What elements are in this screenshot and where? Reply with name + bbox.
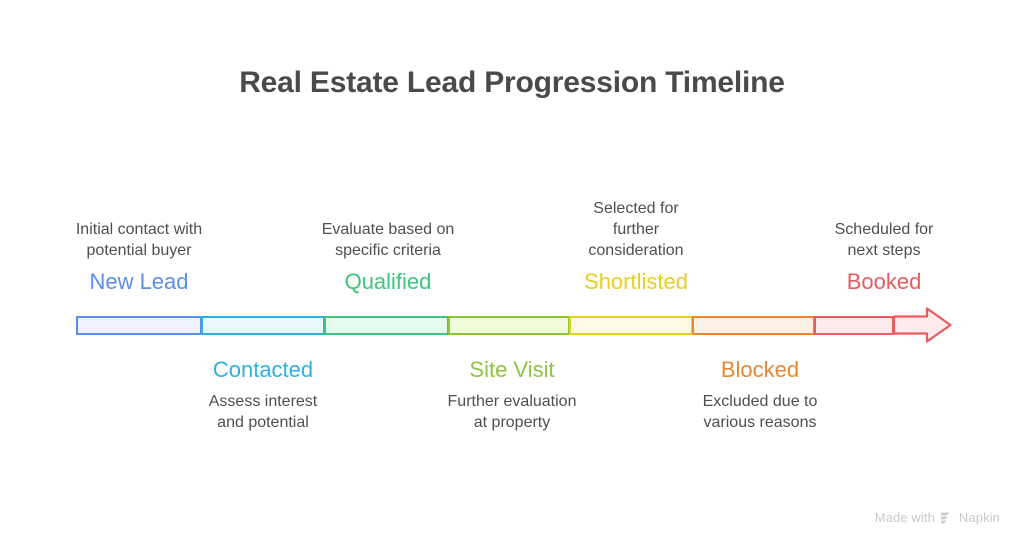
timeline-bar: [76, 307, 952, 343]
right-arrow-icon: [894, 307, 952, 343]
stage-contacted[interactable]: ContactedAssess interestand potential: [138, 356, 388, 433]
timeline-segment-booked[interactable]: [814, 316, 894, 335]
page-title: Real Estate Lead Progression Timeline: [0, 66, 1024, 100]
stage-name: Qualified: [263, 268, 513, 296]
stage-qualified[interactable]: Evaluate based onspecific criteriaQualif…: [263, 219, 513, 296]
stage-description: Selected forfurtherconsideration: [511, 198, 761, 261]
stage-booked[interactable]: Scheduled fornext stepsBooked: [759, 219, 1009, 296]
watermark-prefix: Made with: [875, 510, 935, 525]
timeline-segment-blocked[interactable]: [692, 316, 815, 335]
stage-description: Scheduled fornext steps: [759, 219, 1009, 261]
stage-description: Evaluate based onspecific criteria: [263, 219, 513, 261]
stage-new-lead[interactable]: Initial contact withpotential buyerNew L…: [14, 219, 264, 296]
stage-description: Further evaluationat property: [387, 391, 637, 433]
stage-name: Blocked: [635, 356, 885, 384]
stage-name: Booked: [759, 268, 1009, 296]
stage-description: Initial contact withpotential buyer: [14, 219, 264, 261]
stage-name: Site Visit: [387, 356, 637, 384]
watermark-brand: Napkin: [959, 510, 1000, 525]
watermark: Made with Napkin: [875, 510, 1000, 525]
timeline-segment-qualified[interactable]: [324, 316, 449, 335]
stage-description: Assess interestand potential: [138, 391, 388, 433]
stage-name: Contacted: [138, 356, 388, 384]
timeline-segment-site-visit[interactable]: [448, 316, 570, 335]
stage-shortlisted[interactable]: Selected forfurtherconsiderationShortlis…: [511, 198, 761, 296]
timeline-segment-shortlisted[interactable]: [569, 316, 693, 335]
timeline-segment-contacted[interactable]: [201, 316, 325, 335]
stage-blocked[interactable]: BlockedExcluded due tovarious reasons: [635, 356, 885, 433]
stage-site-visit[interactable]: Site VisitFurther evaluationat property: [387, 356, 637, 433]
stage-description: Excluded due tovarious reasons: [635, 391, 885, 433]
napkin-logo-icon: [940, 511, 954, 524]
stage-name: Shortlisted: [511, 268, 761, 296]
timeline-segment-new-lead[interactable]: [76, 316, 202, 335]
timeline-diagram: Real Estate Lead Progression Timeline In…: [0, 0, 1024, 543]
stage-name: New Lead: [14, 268, 264, 296]
timeline-segments: [76, 316, 900, 335]
